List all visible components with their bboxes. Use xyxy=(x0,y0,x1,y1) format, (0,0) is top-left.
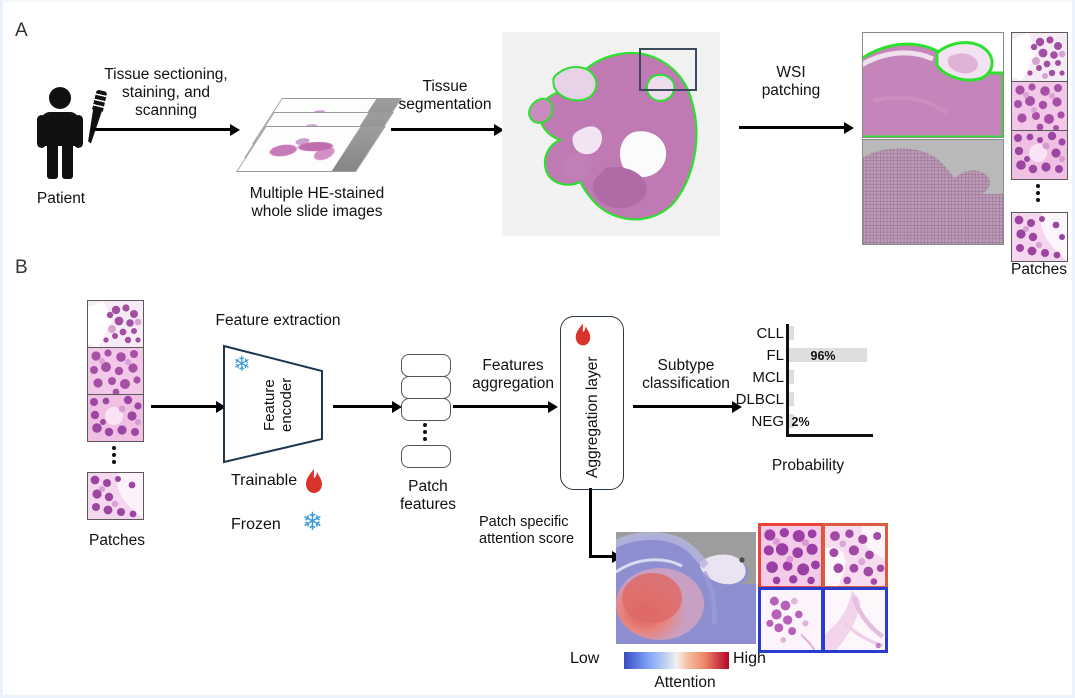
feature-box xyxy=(401,445,451,468)
figure-canvas: A Patient Tissue sectioning, staining, a… xyxy=(0,0,1075,698)
low-attention-patch-1 xyxy=(758,587,824,653)
wsi-patch-grid-image xyxy=(862,139,1004,245)
flame-icon-aggregation xyxy=(573,322,593,347)
encoder-label: Featureencoder xyxy=(261,357,295,453)
patch-thumbnail xyxy=(1011,32,1068,82)
patches-column-b xyxy=(87,300,145,508)
snowflake-icon: ❄ xyxy=(302,510,323,535)
flame-icon xyxy=(303,468,325,494)
bar-category-label: FL xyxy=(720,347,784,364)
high-attention-patch-2 xyxy=(822,523,888,589)
patch-features-label-line2: features xyxy=(389,496,467,514)
snowflake-icon-encoder: ❄ xyxy=(233,354,251,375)
patch-thumbnail xyxy=(87,347,144,395)
patch-thumbnail xyxy=(87,472,144,520)
patches-column-a xyxy=(1011,32,1069,250)
step3-caption-line1: WSI xyxy=(741,64,841,82)
arrow-encoder-to-features xyxy=(333,405,393,408)
chart-x-axis xyxy=(786,434,873,437)
arrow-slides-to-segmentation xyxy=(391,128,495,131)
arrow-patient-to-slides xyxy=(91,128,231,131)
step1-caption-line3: scanning xyxy=(81,102,251,120)
features-aggregation-line1: Features xyxy=(457,357,569,375)
attention-branch-connector-horizontal xyxy=(589,555,613,558)
legend-frozen-label: Frozen xyxy=(231,516,281,534)
feature-box xyxy=(401,398,451,421)
bar xyxy=(789,392,794,406)
attention-caption-line2: attention score xyxy=(479,531,591,548)
segmented-wsi-image xyxy=(502,32,720,236)
slides-label-line2: whole slide images xyxy=(231,203,403,221)
bar-category-label: NEG xyxy=(720,413,784,430)
patch-thumbnail xyxy=(87,394,144,442)
patch-thumbnail xyxy=(1011,130,1068,180)
patches-label-b: Patches xyxy=(81,532,153,550)
step2-caption-line2: segmentation xyxy=(386,96,504,114)
high-attention-patch-1 xyxy=(758,523,824,589)
features-ellipsis xyxy=(423,423,427,441)
arrow-patches-to-encoder xyxy=(151,405,217,408)
bar-category-label: MCL xyxy=(720,369,784,386)
region-of-interest-rectangle xyxy=(639,48,697,91)
attention-caption-line1: Patch specific xyxy=(479,514,591,531)
step2-caption-line1: Tissue xyxy=(386,78,504,96)
feature-box xyxy=(401,376,451,399)
patches-label-a: Patches xyxy=(1003,261,1075,279)
bar-value-label: 2% xyxy=(792,415,810,429)
bar-value-label: 96% xyxy=(811,349,836,363)
attention-branch-connector-vertical xyxy=(589,488,592,558)
probability-axis-label: Probability xyxy=(743,457,873,475)
low-attention-patch-2 xyxy=(822,587,888,653)
bar xyxy=(789,370,794,384)
arrow-aggregation-to-classification xyxy=(633,405,733,408)
step1-caption-line2: staining, and xyxy=(81,84,251,102)
attention-legend-title: Attention xyxy=(610,674,760,692)
attention-heatmap-image xyxy=(616,532,756,644)
feature-extraction-label: Feature extraction xyxy=(208,312,348,330)
patch-thumbnail xyxy=(1011,81,1068,131)
patches-ellipsis xyxy=(1036,184,1040,202)
legend-trainable-label: Trainable xyxy=(231,472,297,490)
attention-colorbar xyxy=(624,652,729,669)
aggregation-layer-label: Aggregation layer xyxy=(584,354,601,480)
feature-box xyxy=(401,354,451,377)
features-aggregation-line2: aggregation xyxy=(457,375,569,393)
slides-label-line1: Multiple HE-stained xyxy=(231,185,403,203)
step3-caption-line2: patching xyxy=(741,82,841,100)
patch-features-stack xyxy=(401,354,455,464)
patch-thumbnail xyxy=(1011,212,1068,262)
panel-label-b: B xyxy=(15,257,28,279)
whole-slide-images-stack xyxy=(241,98,391,178)
patch-features-label-line1: Patch xyxy=(389,478,467,496)
patient-label: Patient xyxy=(21,190,101,208)
probability-bar-chart: CLLFL96%MCLDLBCLNEG2% xyxy=(738,324,873,450)
patches-ellipsis xyxy=(112,446,116,464)
roi-zoom-image xyxy=(862,32,1004,138)
bar xyxy=(789,326,794,340)
bar-category-label: DLBCL xyxy=(720,391,784,408)
bar-category-label: CLL xyxy=(720,325,784,342)
arrow-segmentation-to-patching xyxy=(739,126,845,129)
panel-label-a: A xyxy=(15,20,28,42)
attention-low-label: Low xyxy=(570,650,599,668)
step1-caption-line1: Tissue sectioning, xyxy=(81,66,251,84)
patch-thumbnail xyxy=(87,300,144,348)
arrow-features-to-aggregation xyxy=(453,405,549,408)
